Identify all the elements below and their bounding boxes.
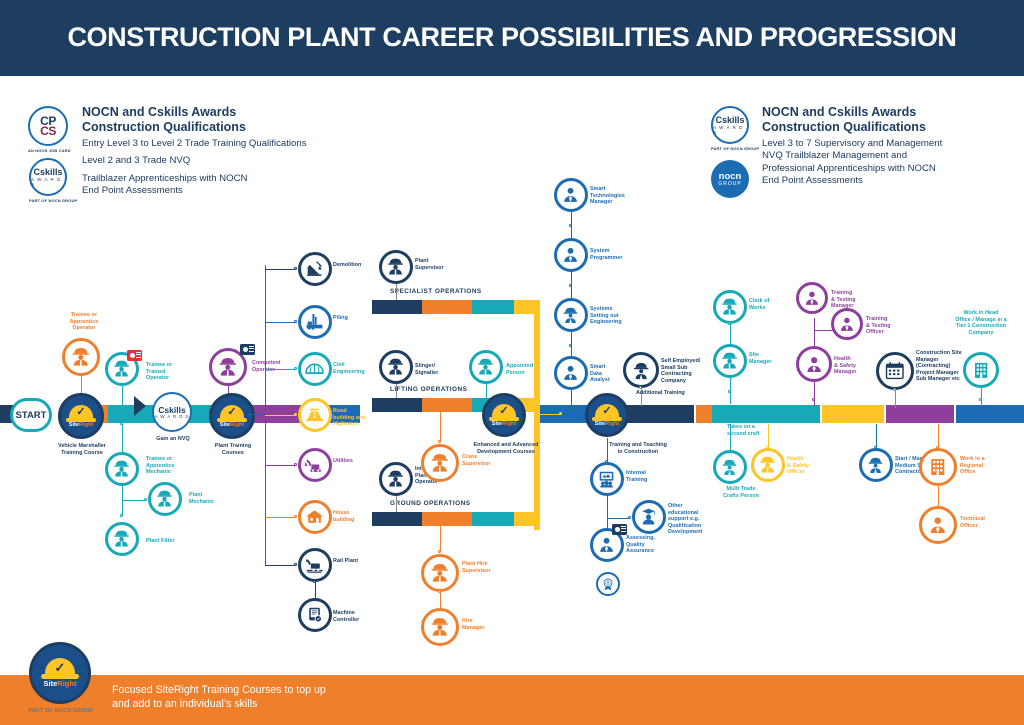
hard-hat-icon: ✓: [220, 405, 244, 420]
connector-dot: [294, 267, 297, 270]
connector-line: [607, 518, 629, 519]
building-icon: [970, 359, 992, 381]
node-plant-training[interactable]: ✓SiteRight: [209, 393, 255, 439]
node-work-regional-office[interactable]: [919, 448, 957, 486]
worker-icon: [111, 358, 132, 379]
engineer-icon: [865, 454, 886, 475]
node-smart-technologies-manager[interactable]: [554, 178, 588, 212]
label-health-safety-manager: Health & Safety Manager: [834, 356, 876, 376]
qualifications-right: NOCN and Cskills Awards Construction Qua…: [762, 105, 1024, 188]
worker-icon: [69, 345, 93, 369]
tablet-icon: [304, 604, 325, 625]
nocn-badge-line-2: GROUP: [718, 181, 741, 187]
cskills-badge-caption: PART OF NOCN GROUP: [29, 198, 77, 203]
yellow-bracket-bottom: [534, 524, 540, 530]
worker-icon: [216, 355, 240, 379]
bridge-icon: [304, 358, 325, 379]
suit-icon: [596, 534, 617, 555]
connector-dot: [144, 498, 147, 501]
connector-dot: [438, 550, 441, 553]
node-utilities[interactable]: [298, 448, 332, 482]
section-label-additional-training: Additional Training: [636, 390, 685, 396]
worker-icon: [428, 451, 452, 475]
engineer-icon: [630, 359, 652, 381]
connector-line: [265, 465, 295, 466]
connector-line: [540, 414, 560, 415]
label-trainee-apprentice-operator: Trainee or Apprentice Operator: [60, 312, 108, 332]
label-work-head-office-tier1: Work in Head Office / Manage in a Tier 1…: [946, 310, 1016, 336]
label-civil-engineering: Civil Engineering: [333, 362, 375, 375]
suit-icon: [560, 244, 581, 265]
node-smart-data-analyst[interactable]: [554, 356, 588, 390]
node-technical-officer[interactable]: [919, 506, 957, 544]
connector-line: [265, 269, 295, 270]
timeline-segment-yellow-2: [822, 405, 884, 423]
label-gain-nvq: Gain an NVQ: [140, 436, 206, 443]
worker-icon: [385, 256, 406, 277]
connector-line: [265, 415, 295, 416]
node-rail-plant[interactable]: [298, 548, 332, 582]
node-clerk-of-works[interactable]: [713, 290, 747, 324]
label-plant-hire-supervisor: Plant Hire Supervisor: [462, 561, 504, 574]
label-slinger-signaller: Slinger/ Signaller: [415, 363, 455, 376]
connector-line: [122, 486, 123, 516]
qual-right-line-4: End Point Assessments: [762, 175, 1024, 187]
connector-line: [248, 414, 265, 415]
cskills-badge-right: Cskills A W A R D S PART OF NOCN GROUP: [711, 106, 759, 151]
cskills-badge-line-2: A W A R D S: [31, 177, 65, 187]
qual-left-title-2: Construction Qualifications: [82, 120, 372, 135]
worker-icon: [719, 350, 740, 371]
suit-icon: [837, 314, 857, 334]
connector-line: [981, 388, 982, 406]
siteright-wordmark: SiteRight: [220, 422, 245, 428]
footer-text: Focused SiteRight Training Courses to to…: [112, 683, 326, 711]
qual-left-line-3: Trailblazer Apprenticeships with NOCN: [82, 173, 372, 185]
connector-line: [265, 322, 295, 323]
label-self-employed-sub-contracting: Self Employed/ Small Sub Contracting Com…: [661, 358, 713, 384]
suit-icon: [560, 362, 581, 383]
node-plant-supervisor[interactable]: [379, 250, 413, 284]
road-icon: [304, 404, 325, 425]
section-label-specialist: SPECIALIST OPERATIONS: [390, 288, 482, 295]
node-plant-mechanic[interactable]: [148, 482, 182, 516]
node-appointed-person[interactable]: [469, 350, 503, 384]
section-label-ground: GROUND OPERATIONS: [390, 500, 470, 507]
ops-bar-teal: [472, 512, 514, 526]
siteright-wordmark: SiteRight: [595, 421, 620, 427]
node-multi-trade-crafts-person[interactable]: [713, 450, 747, 484]
connector-dot: [294, 367, 297, 370]
connector-dot: [294, 563, 297, 566]
worker-icon: [428, 561, 452, 585]
worker-icon: [385, 468, 406, 489]
label-plant-supervisor: Plant Supervisor: [415, 258, 457, 271]
label-training-testing-manager: Training & Testing Manager: [831, 290, 871, 310]
hard-hat-icon: ✓: [45, 658, 75, 676]
qual-left-line-1: Entry Level 3 to Level 2 Trade Training …: [82, 138, 372, 150]
label-training-testing-officer: Training & Testing Officer: [866, 316, 906, 336]
connector-line: [814, 382, 815, 406]
node-site-manager[interactable]: [713, 344, 747, 378]
connector-line: [814, 318, 815, 348]
node-health-safety-officer[interactable]: [751, 448, 785, 482]
engineer-icon: [719, 456, 740, 477]
cpcs-badge-line-2: CS: [40, 126, 56, 137]
node-crane-supervisor[interactable]: [421, 444, 459, 482]
connector-line: [396, 494, 397, 512]
node-civil-engineering[interactable]: [298, 352, 332, 386]
label-site-manager: Site Manager: [749, 352, 789, 365]
label-machine-controller: Machine Controller: [333, 610, 375, 623]
label-hire-manager: Hire Manager: [462, 618, 502, 631]
qual-right-title-2: Construction Qualifications: [762, 120, 1024, 135]
label-system-programmer: System Programmer: [590, 248, 636, 261]
cskills-badge-right-line-2: A W A R D S: [713, 125, 747, 135]
qual-left-line-2: Level 2 and 3 Trade NVQ: [82, 155, 372, 167]
label-health-safety-officer: Health & Safety Officer: [787, 456, 827, 476]
node-piling[interactable]: [298, 305, 332, 339]
rail-icon: [304, 554, 325, 575]
ops-bar-navy: [372, 398, 422, 412]
ops-bar-navy: [372, 300, 422, 314]
ops-bar-orange: [422, 512, 472, 526]
worker-icon: [111, 528, 132, 549]
worker-icon: [154, 488, 175, 509]
cpcs-badge-caption: AN NOCN JOB CARD: [28, 148, 71, 153]
label-training-teaching: Training and Teaching in Construction: [600, 442, 676, 455]
label-crane-supervisor: Crane Supervisor: [462, 454, 502, 467]
infographic-canvas: CONSTRUCTION PLANT CAREER POSSIBILITIES …: [0, 0, 1024, 725]
suit-icon: [560, 184, 581, 205]
connector-line: [265, 517, 295, 518]
node-trainee-apprentice-operator[interactable]: [62, 338, 100, 376]
worker-icon: [719, 296, 740, 317]
connector-line: [440, 412, 441, 442]
flow-arrow-icon: [134, 396, 146, 416]
qualifications-left: NOCN and Cskills Awards Construction Qua…: [82, 105, 372, 198]
label-vehicle-marshaller: Vehicle Marshaller Training Course: [42, 443, 122, 456]
house-icon: [304, 506, 325, 527]
qual-right-line-3: Professional Apprenticeships with NOCN: [762, 163, 1024, 175]
label-rail-plant: Rail Plant: [333, 558, 375, 565]
connector-dot: [294, 320, 297, 323]
node-work-head-office-tier1[interactable]: [963, 352, 999, 388]
suit-icon: [926, 513, 950, 537]
label-utilities: Utilities: [333, 458, 375, 465]
node-enhanced-advanced[interactable]: ✓SiteRight: [482, 393, 526, 437]
node-demolition[interactable]: [298, 252, 332, 286]
node-training-teaching[interactable]: ✓SiteRight: [585, 393, 629, 437]
connector-line: [265, 369, 295, 370]
connector-dot: [294, 515, 297, 518]
label-demolition: Demolition: [333, 262, 375, 269]
suit-icon: [802, 288, 822, 308]
label-plant-mechanic: Plant Mechanic: [189, 492, 229, 505]
ops-bar-navy: [372, 512, 422, 526]
siteright-wordmark: SiteRight: [492, 421, 517, 427]
connector-line: [938, 486, 939, 508]
cskills-badge-left: Cskills A W A R D S PART OF NOCN GROUP: [29, 158, 77, 203]
label-road-building-highways: Road building and Highways: [333, 408, 375, 428]
siteright-logo: ✓ SiteRight: [29, 642, 91, 704]
start-badge[interactable]: START: [10, 398, 52, 432]
node-construction-site-manager[interactable]: [876, 352, 914, 390]
node-trainee-apprentice-mechanic[interactable]: [105, 452, 139, 486]
timeline-segment-teal-2: [758, 405, 820, 423]
siteright-logo-caption: PART OF NOCN GROUP: [21, 708, 101, 714]
connector-line: [122, 386, 123, 408]
footer-text-line-2: and add to an individual’s skills: [112, 697, 326, 711]
worker-icon: [475, 356, 496, 377]
label-assessing-quality-assurance: Assessing, Quality Assurance: [626, 535, 666, 555]
node-training-testing-manager[interactable]: [796, 282, 828, 314]
label-takes-on-second-craft: Takes on a second craft: [727, 424, 777, 437]
worker-icon: [757, 454, 778, 475]
label-enhanced-advanced: Enhanced and Advanced Development Course…: [460, 442, 552, 455]
node-plant-hire-supervisor[interactable]: [421, 554, 459, 592]
cskills-badge-right-caption: PART OF NOCN GROUP: [711, 146, 759, 151]
label-piling: Piling: [333, 315, 375, 322]
worker-icon: [111, 458, 132, 479]
id-card-icon: [127, 350, 142, 361]
node-vehicle-marshaller[interactable]: ✓SiteRight: [58, 393, 104, 439]
section-label-lifting: LIFTING OPERATIONS: [390, 386, 467, 393]
qual-right-title-1: NOCN and Cskills Awards: [762, 105, 1024, 120]
label-clerk-of-works: Clerk of Works: [749, 298, 789, 311]
seal-icon: [600, 576, 616, 592]
connector-line: [265, 565, 295, 566]
connector-line: [486, 382, 487, 398]
qual-left-line-4: End Point Assessments: [82, 185, 372, 197]
label-competent-operator: Competent Operator: [252, 360, 296, 373]
hard-hat-icon: ✓: [492, 404, 516, 419]
node-internal-training[interactable]: [590, 462, 624, 496]
label-plant-training: Plant Training Courses: [194, 443, 272, 456]
connector-line: [730, 324, 731, 346]
node-self-employed-sub-contracting[interactable]: [623, 352, 659, 388]
grad-icon: [638, 506, 659, 527]
connector-line: [440, 526, 441, 552]
node-machine-controller[interactable]: [298, 598, 332, 632]
node-training-testing-officer[interactable]: [831, 308, 863, 340]
engineer-icon: [560, 304, 581, 325]
timeline-segment-navy-2: [626, 405, 694, 423]
node-other-educational-support[interactable]: [632, 500, 666, 534]
header-banner: CONSTRUCTION PLANT CAREER POSSIBILITIES …: [0, 0, 1024, 76]
node-road-building-highways[interactable]: [298, 398, 332, 432]
connector-line: [396, 282, 397, 300]
node-gain-nvq[interactable]: CskillsA W A R D S: [152, 392, 192, 432]
node-house-building[interactable]: [298, 500, 332, 534]
label-trainee-trained-operator: Trainee or Trained Operator: [146, 362, 190, 382]
connector-line: [571, 390, 572, 406]
qual-left-title-1: NOCN and Cskills Awards: [82, 105, 372, 120]
node-intelligent-plant-operator[interactable]: [379, 462, 413, 496]
cskills-badge-line-1: Cskills: [33, 168, 62, 177]
nocn-badge: nocn GROUP: [711, 160, 749, 198]
label-multi-trade-crafts-person: Multi Trade Crafts Person: [711, 486, 771, 499]
timeline-segment-teal-3: [712, 405, 760, 423]
qual-right-line-2: NVQ Trailblazer Management and: [762, 150, 1024, 162]
connector-dot: [120, 514, 123, 517]
siteright-wordmark: SiteRight: [44, 679, 77, 688]
node-health-safety-manager[interactable]: [796, 346, 832, 382]
node-slinger-signaller[interactable]: [379, 350, 413, 384]
id-card-icon: [240, 344, 255, 355]
connector-dot: [438, 440, 441, 443]
hard-hat-icon: ✓: [595, 404, 619, 419]
ops-bar-orange: [422, 300, 472, 314]
label-internal-training: Internal Training: [626, 470, 666, 483]
yellow-bracket-vertical: [534, 300, 540, 530]
node-plant-fitter[interactable]: [105, 522, 139, 556]
hard-hat-icon: ✓: [69, 405, 93, 420]
label-work-regional-office: Work in a Regional Office: [960, 456, 1000, 476]
crane-icon: [304, 258, 325, 279]
footer-text-line-1: Focused SiteRight Training Courses to to…: [112, 683, 326, 697]
siteright-wordmark: SiteRight: [69, 422, 94, 428]
node-start-manage-medium-sub-contractor[interactable]: [859, 448, 893, 482]
worker-icon: [428, 615, 452, 639]
label-house-building: House building: [333, 510, 375, 523]
connector-dot: [294, 463, 297, 466]
node-assessment-seal: [596, 572, 620, 596]
ops-bar-orange: [422, 398, 472, 412]
label-trainee-apprentice-mechanic: Trainee or Apprentice Mechanic: [146, 456, 192, 476]
connector-line: [122, 424, 123, 454]
qual-right-line-1: Level 3 to 7 Supervisory and Management: [762, 138, 1024, 150]
piling-icon: [304, 311, 325, 332]
label-smart-technologies-manager: Smart Technologies Manager: [590, 186, 636, 206]
nocn-badge-line-1: nocn: [719, 172, 742, 181]
board-icon: [596, 468, 617, 489]
label-other-educational-support: Other educational support e.g. Qualifica…: [668, 503, 710, 536]
connector-line: [122, 500, 146, 501]
connector-line: [895, 390, 896, 408]
label-appointed-person: Appointed Person: [506, 363, 548, 376]
page-title: CONSTRUCTION PLANT CAREER POSSIBILITIES …: [0, 22, 1024, 53]
cskills-badge-right-line-1: Cskills: [715, 116, 744, 125]
node-systems-setting-out-engineering[interactable]: [554, 298, 588, 332]
label-technical-officer: Technical Officer: [960, 516, 1000, 529]
building-icon: [926, 455, 950, 479]
node-hire-manager[interactable]: [421, 608, 459, 646]
timeline-segment-blue-3: [956, 405, 1024, 423]
timeline-segment-purple-2: [886, 405, 954, 423]
node-system-programmer[interactable]: [554, 238, 588, 272]
label-plant-fitter: Plant Fitter: [146, 538, 186, 545]
suit-icon: [803, 353, 825, 375]
worker-icon: [385, 356, 406, 377]
cpcs-badge: CP CS AN NOCN JOB CARD: [28, 106, 71, 153]
id-card-icon: [612, 524, 627, 535]
label-systems-setting-out-engineering: Systems Setting out Engineering: [590, 306, 636, 326]
connector-dot: [628, 516, 631, 519]
calendar-icon: [883, 359, 907, 383]
digger-icon: [304, 454, 325, 475]
ops-bar-teal: [472, 300, 514, 314]
